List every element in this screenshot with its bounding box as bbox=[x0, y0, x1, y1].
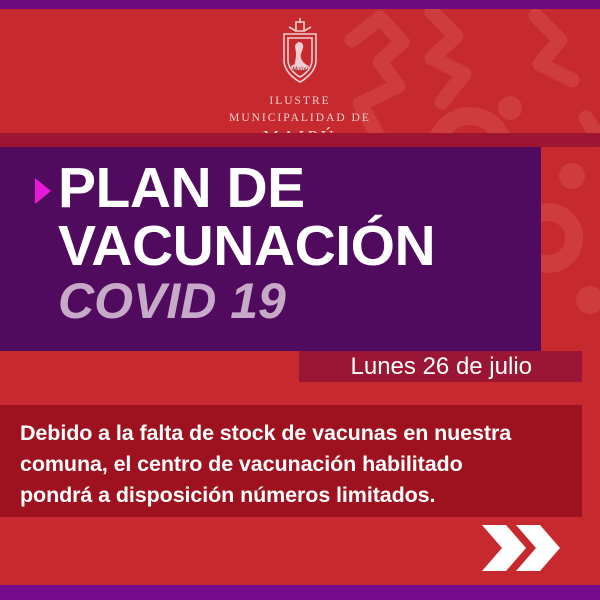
message-text: Debido a la falta de stock de vacunas en… bbox=[20, 418, 568, 512]
logo-line-ilustre: ILUSTRE bbox=[0, 95, 600, 109]
message-line-2: comuna, el centro de vacunación habilita… bbox=[20, 449, 568, 480]
double-chevron-right-icon bbox=[480, 525, 562, 571]
municipality-logo: Maipú ILUSTRE MUNICIPALIDAD DE MAIPÚ bbox=[0, 18, 600, 148]
message-band: Debido a la falta de stock de vacunas en… bbox=[0, 405, 582, 517]
svg-text:Maipú: Maipú bbox=[291, 67, 308, 73]
play-triangle-icon bbox=[35, 178, 51, 204]
date-label: Lunes 26 de julio bbox=[351, 353, 532, 381]
top-accent-bar bbox=[0, 0, 600, 9]
title-line-3-covid: COVID 19 bbox=[58, 276, 533, 326]
bottom-accent-bar bbox=[0, 585, 600, 600]
title-line-1: PLAN DE bbox=[58, 156, 305, 220]
title-line-1-wrapper: PLAN DE bbox=[58, 161, 533, 217]
title-line-2: VACUNACIÓN bbox=[58, 219, 533, 275]
date-band: Lunes 26 de julio bbox=[299, 351, 582, 382]
separator-band bbox=[0, 133, 600, 147]
title-block: PLAN DE VACUNACIÓN COVID 19 bbox=[0, 147, 541, 351]
message-line-1: Debido a la falta de stock de vacunas en… bbox=[20, 418, 568, 449]
vaccination-plan-poster: Maipú ILUSTRE MUNICIPALIDAD DE MAIPÚ PLA… bbox=[0, 0, 600, 600]
title-inner: PLAN DE VACUNACIÓN COVID 19 bbox=[58, 157, 533, 326]
message-line-3: pondrá a disposición números limitados. bbox=[20, 480, 568, 511]
logo-line-municipalidad: MUNICIPALIDAD DE bbox=[0, 112, 600, 126]
coat-of-arms-shield-icon: Maipú bbox=[276, 18, 324, 92]
